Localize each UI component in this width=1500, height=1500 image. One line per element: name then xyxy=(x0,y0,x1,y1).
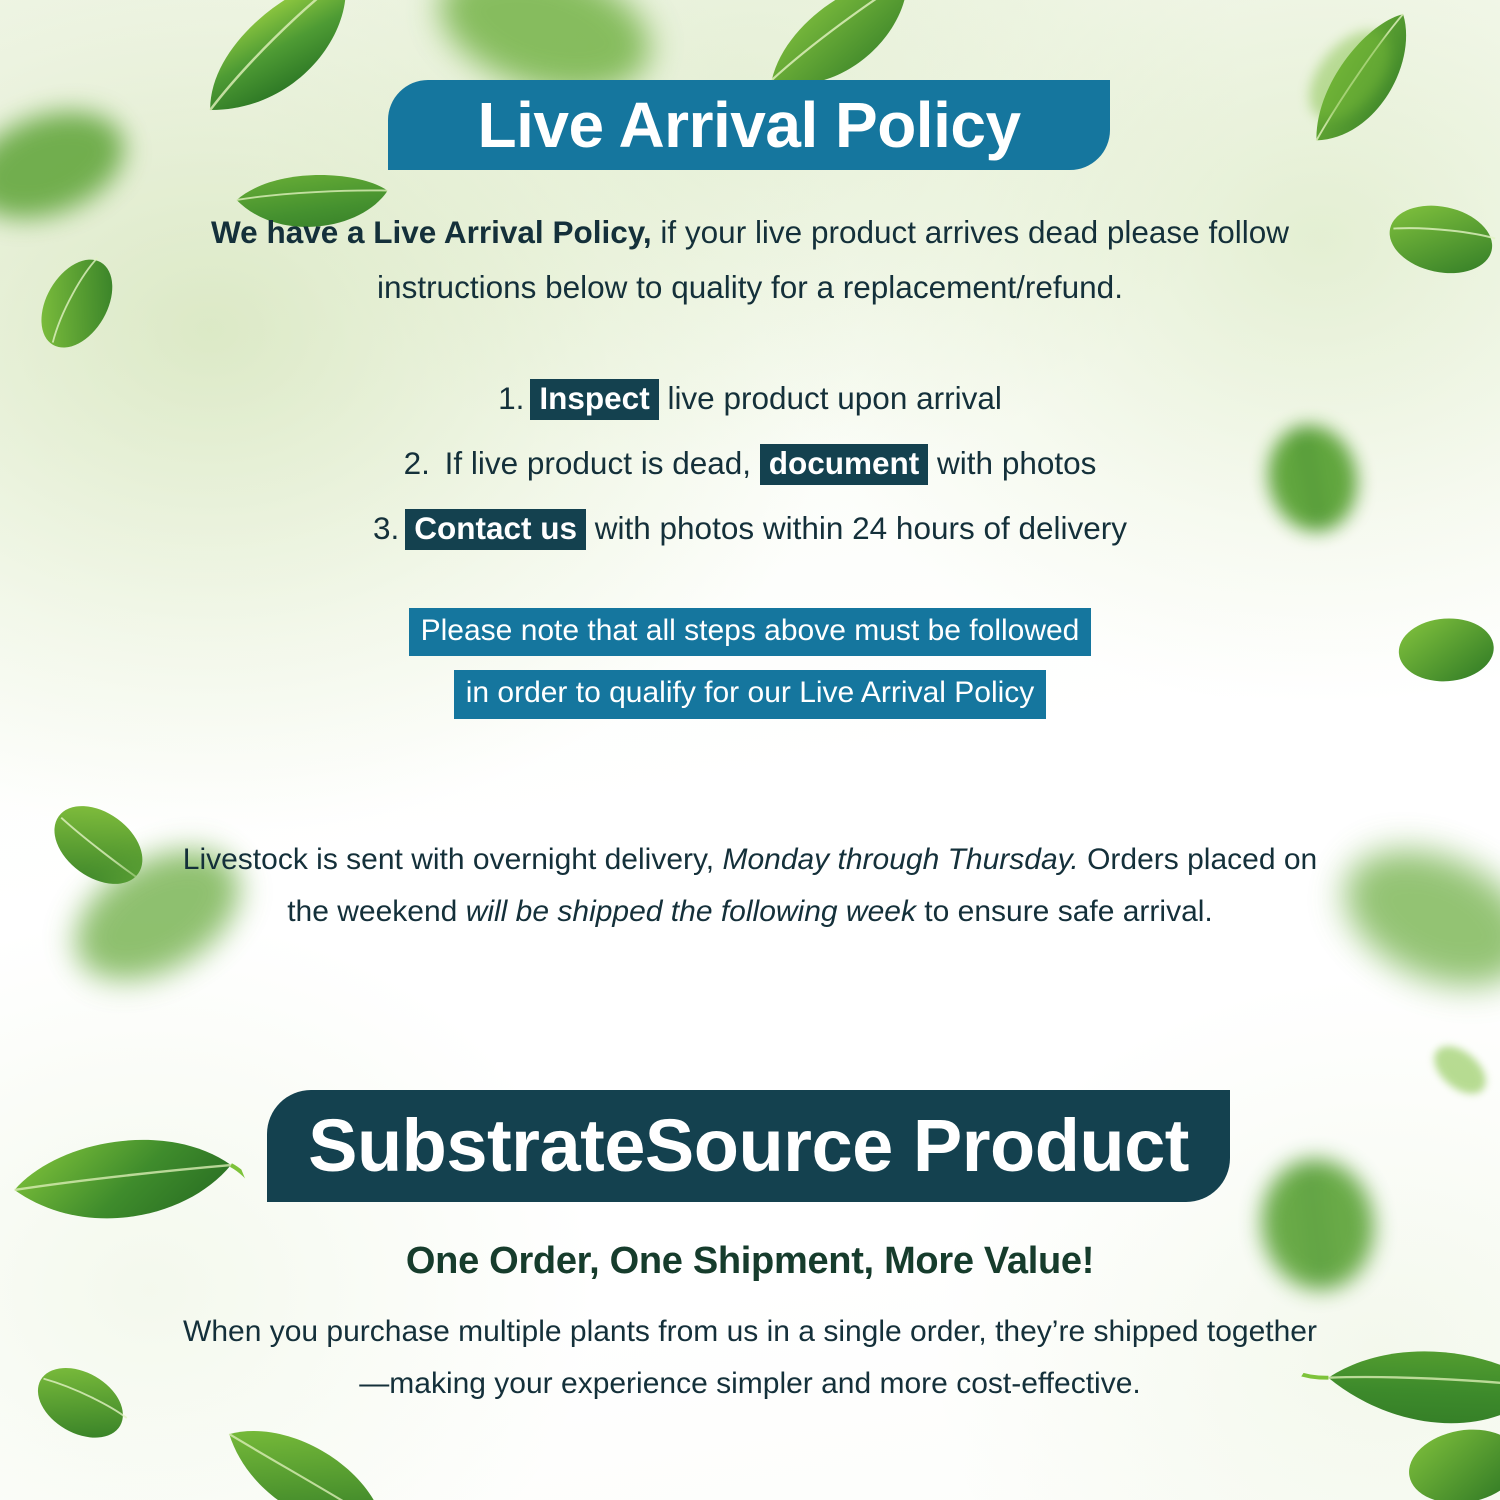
shipping-part-1: Livestock is sent with overnight deliver… xyxy=(183,843,723,876)
shipping-italic-1: Monday through Thursday. xyxy=(722,843,1078,876)
status-badge: document xyxy=(760,444,929,485)
note-line-2: in order to qualify for our Live Arrival… xyxy=(454,670,1047,718)
steps-list: 1.Inspect live product upon arrival 2. I… xyxy=(150,366,1350,561)
list-item: 2. If live product is dead, document wit… xyxy=(150,431,1350,496)
step-before: If live product is dead, xyxy=(436,445,760,481)
step-after: with photos within 24 hours of delivery xyxy=(586,510,1127,546)
shipping-schedule-paragraph: Livestock is sent with overnight deliver… xyxy=(170,834,1330,938)
shipping-italic-2: will be shipped the following week xyxy=(466,895,916,928)
policy-note-callout: Please note that all steps above must be… xyxy=(150,608,1350,719)
product-section-title: SubstrateSource Product xyxy=(267,1090,1230,1202)
note-line-1: Please note that all steps above must be… xyxy=(409,608,1092,656)
step-number: 1. xyxy=(498,380,524,416)
intro-lead: We have a Live Arrival Policy, xyxy=(211,214,652,250)
list-item: 3.Contact us with photos within 24 hours… xyxy=(150,496,1350,561)
page-title: Live Arrival Policy xyxy=(388,80,1110,170)
shipping-part-3: to ensure safe arrival. xyxy=(916,895,1213,928)
step-after: live product upon arrival xyxy=(659,380,1002,416)
status-badge: Contact us xyxy=(405,509,586,550)
step-number: 2. xyxy=(404,445,430,481)
step-after: with photos xyxy=(928,445,1096,481)
live-arrival-policy-infographic: Live Arrival Policy We have a Live Arriv… xyxy=(0,0,1500,1500)
product-tagline: One Order, One Shipment, More Value! xyxy=(150,1240,1350,1283)
content-layer: Live Arrival Policy We have a Live Arriv… xyxy=(0,0,1500,1500)
intro-paragraph: We have a Live Arrival Policy, if your l… xyxy=(150,205,1350,315)
status-badge: Inspect xyxy=(530,379,658,420)
product-description: When you purchase multiple plants from u… xyxy=(180,1306,1320,1410)
step-number: 3. xyxy=(373,510,399,546)
list-item: 1.Inspect live product upon arrival xyxy=(150,366,1350,431)
